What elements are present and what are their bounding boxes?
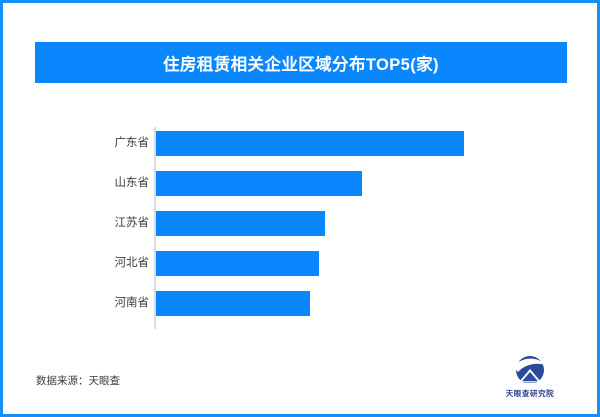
bar-row: 广东省 [3, 131, 600, 156]
bar-fill [156, 211, 325, 236]
brand-logo: 天眼查研究院 [491, 355, 569, 403]
bar-category-label: 河南省 [63, 291, 149, 316]
chart-card: 住房租赁相关企业区域分布TOP5(家) 广东省 山东省 江苏省 河北省 [0, 0, 600, 417]
data-source-label: 数据来源：天眼查 [36, 373, 120, 388]
bar-row: 山东省 [3, 171, 600, 196]
bar-fill [156, 291, 310, 316]
bar-track [156, 171, 556, 196]
bar-track [156, 131, 556, 156]
bar-category-label: 河北省 [63, 251, 149, 276]
bar-category-label: 江苏省 [63, 211, 149, 236]
bar-chart: 广东省 山东省 江苏省 河北省 河南省 [3, 113, 600, 328]
bar-fill [156, 131, 464, 156]
brand-name-label: 天眼查研究院 [506, 388, 555, 399]
bar-fill [156, 251, 319, 276]
tianyancha-logo-icon [510, 355, 550, 387]
bar-track [156, 251, 556, 276]
bar-fill [156, 171, 362, 196]
bar-category-label: 广东省 [63, 131, 149, 156]
bar-track [156, 211, 556, 236]
bar-row: 河南省 [3, 291, 600, 316]
bar-row: 河北省 [3, 251, 600, 276]
bar-track [156, 291, 556, 316]
bar-category-label: 山东省 [63, 171, 149, 196]
page-title: 住房租赁相关企业区域分布TOP5(家) [163, 51, 439, 75]
bar-row: 江苏省 [3, 211, 600, 236]
chart-title-banner: 住房租赁相关企业区域分布TOP5(家) [35, 42, 567, 83]
